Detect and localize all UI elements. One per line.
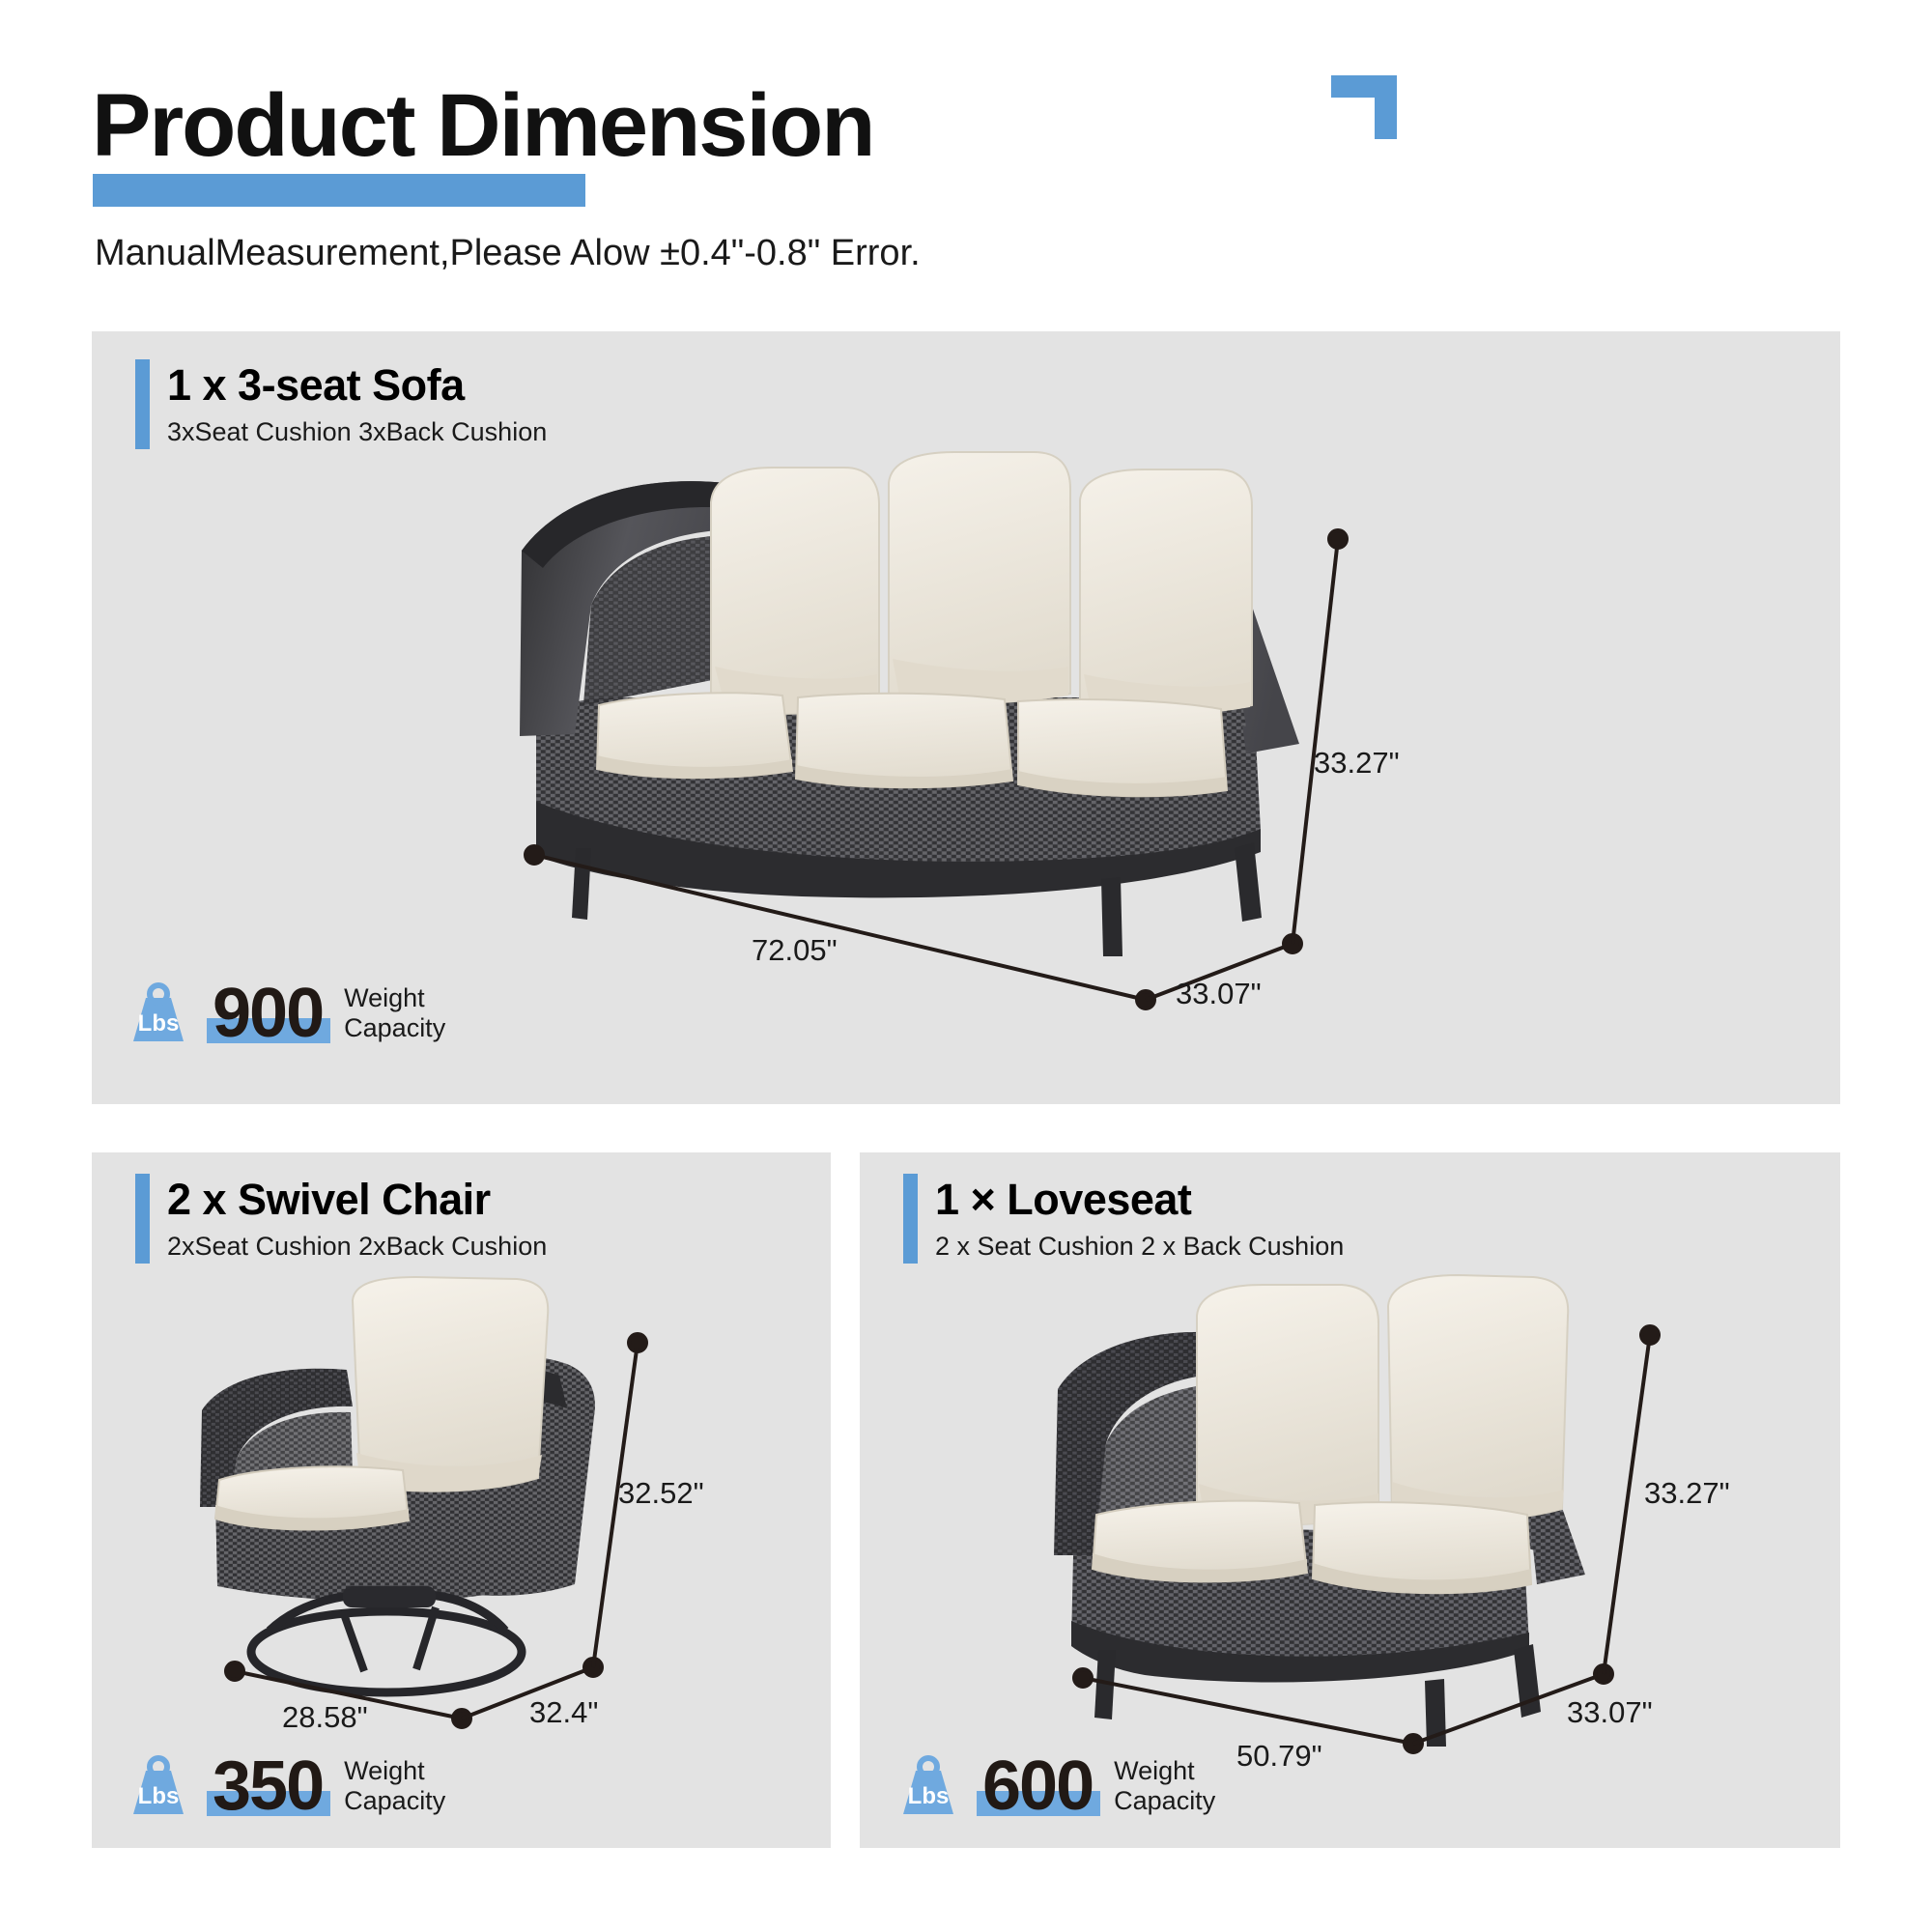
- weight-value-chair: 350: [213, 1750, 323, 1822]
- dimension-depth-loveseat: 33.07": [1567, 1695, 1653, 1730]
- panel-header-loveseat: 1 × Loveseat 2 x Seat Cushion 2 x Back C…: [903, 1174, 1344, 1264]
- page-title: Product Dimension: [92, 77, 873, 174]
- product-image-loveseat: [1038, 1265, 1608, 1748]
- panel-title-chair: 2 x Swivel Chair: [167, 1174, 547, 1226]
- accent-bar-chair: [135, 1174, 150, 1264]
- weight-lbs-icon: Lbs: [894, 1751, 963, 1821]
- dimension-height-loveseat: 33.27": [1644, 1476, 1730, 1511]
- product-image-sofa: [483, 415, 1323, 976]
- weight-value-sofa: 900: [213, 978, 323, 1049]
- measurement-disclaimer: ManualMeasurement,Please Alow ±0.4"-0.8"…: [95, 230, 921, 276]
- dimension-width-chair: 28.58": [282, 1700, 368, 1735]
- corner-bracket-vertical: [1375, 75, 1397, 139]
- weight-lbs-icon: Lbs: [124, 1751, 193, 1821]
- panel-subtitle-chair: 2xSeat Cushion 2xBack Cushion: [167, 1229, 547, 1264]
- title-underline-bar: [93, 174, 585, 207]
- dimension-width-sofa: 72.05": [752, 933, 838, 968]
- page-header: Product Dimension ManualMeasurement,Plea…: [0, 0, 1932, 319]
- weight-value-loveseat: 600: [982, 1750, 1093, 1822]
- dimension-height-sofa: 33.27": [1314, 746, 1400, 781]
- weight-caption-line1: Weight: [344, 1756, 445, 1786]
- page-title-rest: Dimension: [414, 76, 874, 175]
- weight-caption-chair: Weight Capacity: [344, 1756, 445, 1816]
- dimension-width-loveseat: 50.79": [1236, 1739, 1322, 1774]
- weight-caption-line2: Capacity: [344, 1013, 445, 1043]
- weight-capacity-badge-loveseat: Lbs 600 Weight Capacity: [894, 1750, 1215, 1822]
- svg-text:Lbs: Lbs: [908, 1783, 950, 1809]
- weight-caption-loveseat: Weight Capacity: [1114, 1756, 1215, 1816]
- weight-capacity-badge-chair: Lbs 350 Weight Capacity: [124, 1750, 445, 1822]
- dimension-depth-chair: 32.4": [529, 1695, 598, 1730]
- dimension-height-chair: 32.52": [618, 1476, 704, 1511]
- svg-text:Lbs: Lbs: [138, 1783, 180, 1809]
- weight-caption-line1: Weight: [344, 983, 445, 1013]
- corner-bracket-icon: [1331, 75, 1397, 139]
- weight-caption-line1: Weight: [1114, 1756, 1215, 1786]
- weight-caption-sofa: Weight Capacity: [344, 983, 445, 1043]
- weight-lbs-icon: Lbs: [124, 979, 193, 1048]
- product-image-chair: [198, 1275, 613, 1710]
- panel-header-chair: 2 x Swivel Chair 2xSeat Cushion 2xBack C…: [135, 1174, 547, 1264]
- panel-title-loveseat: 1 × Loveseat: [935, 1174, 1344, 1226]
- panel-subtitle-loveseat: 2 x Seat Cushion 2 x Back Cushion: [935, 1229, 1344, 1264]
- accent-bar-sofa: [135, 359, 150, 449]
- weight-capacity-badge-sofa: Lbs 900 Weight Capacity: [124, 978, 445, 1049]
- weight-caption-line2: Capacity: [1114, 1786, 1215, 1816]
- page-title-bold: Product: [92, 76, 414, 175]
- svg-text:Lbs: Lbs: [138, 1010, 180, 1037]
- accent-bar-loveseat: [903, 1174, 918, 1264]
- weight-caption-line2: Capacity: [344, 1786, 445, 1816]
- panel-title-sofa: 1 x 3-seat Sofa: [167, 359, 547, 412]
- dimension-depth-sofa: 33.07": [1176, 977, 1262, 1011]
